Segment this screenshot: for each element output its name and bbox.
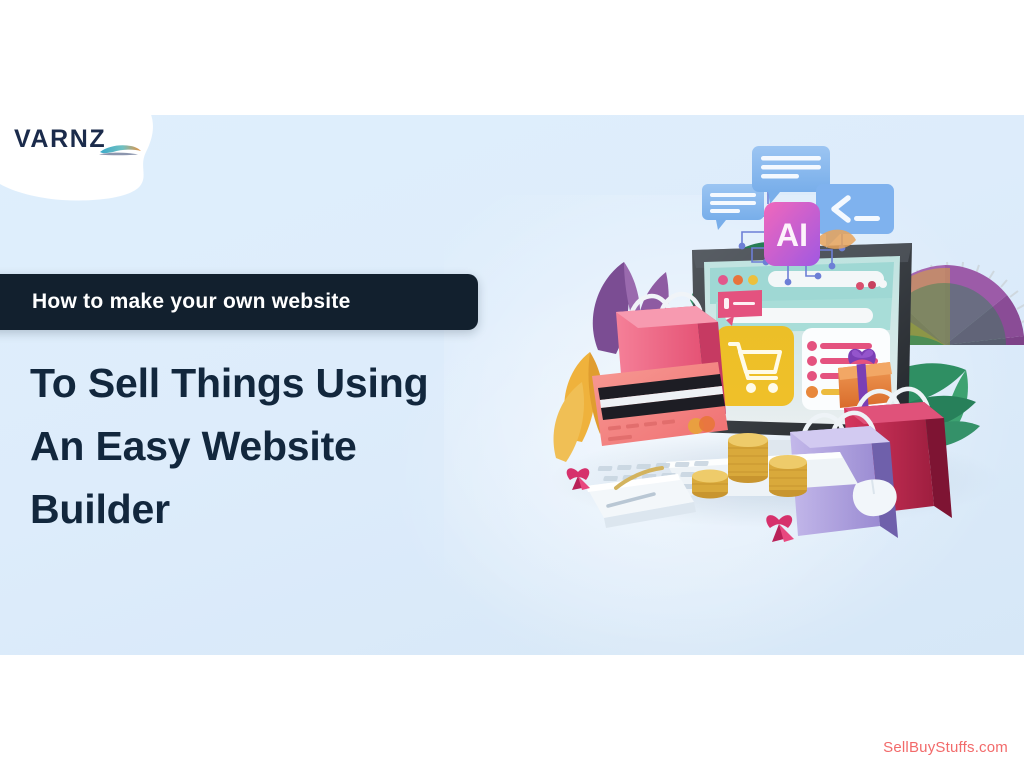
ai-chip-label: AI — [776, 217, 808, 253]
watermark-label: SellBuyStuffs.com — [883, 739, 1008, 756]
product-card — [802, 328, 892, 410]
browser-dot-1 — [718, 275, 728, 285]
banner-image: VARNZ How to make your own website To Se… — [0, 0, 1024, 768]
illustration-svg: AI — [520, 140, 1024, 560]
browser-dot-3 — [748, 275, 758, 285]
brand-logo[interactable]: VARNZ — [14, 124, 144, 158]
headline-line-2: An Easy Website — [30, 415, 550, 478]
headline-line-3: Builder — [30, 478, 550, 541]
ai-chip-badge: AI — [764, 202, 820, 266]
cart-tile — [716, 326, 794, 406]
eyebrow-badge: How to make your own website — [0, 274, 478, 330]
logo-swoosh-icon — [98, 143, 142, 157]
page-title: To Sell Things Using An Easy Website Bui… — [30, 352, 550, 541]
ecommerce-illustration: AI — [520, 140, 1024, 560]
credit-card — [592, 362, 728, 446]
eyebrow-badge-label: How to make your own website — [0, 290, 351, 314]
chat-bubble-small — [702, 184, 764, 230]
browser-dot-2 — [733, 275, 743, 285]
headline-line-1: To Sell Things Using — [30, 352, 550, 415]
